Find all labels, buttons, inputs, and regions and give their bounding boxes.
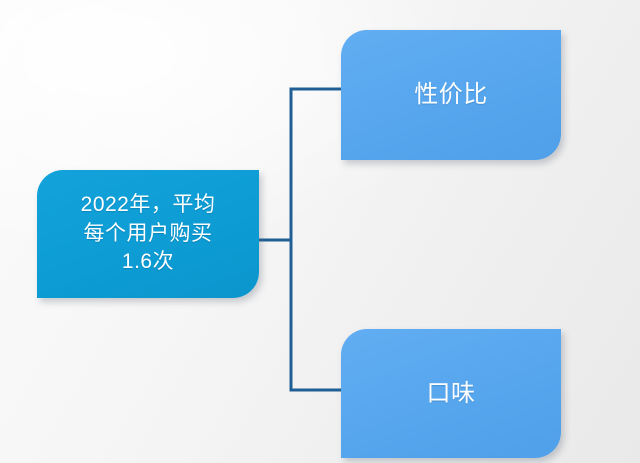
node-child-taste[interactable]: 口味 bbox=[341, 329, 561, 458]
diagram-canvas: 2022年，平均 每个用户购买 1.6次 性价比 口味 bbox=[0, 0, 640, 463]
node-root-label: 2022年，平均 每个用户购买 1.6次 bbox=[81, 191, 216, 278]
node-root[interactable]: 2022年，平均 每个用户购买 1.6次 bbox=[37, 170, 259, 298]
node-child-top-label: 性价比 bbox=[414, 78, 488, 111]
node-child-value-for-money[interactable]: 性价比 bbox=[341, 30, 561, 160]
node-child-bottom-label: 口味 bbox=[427, 377, 476, 410]
